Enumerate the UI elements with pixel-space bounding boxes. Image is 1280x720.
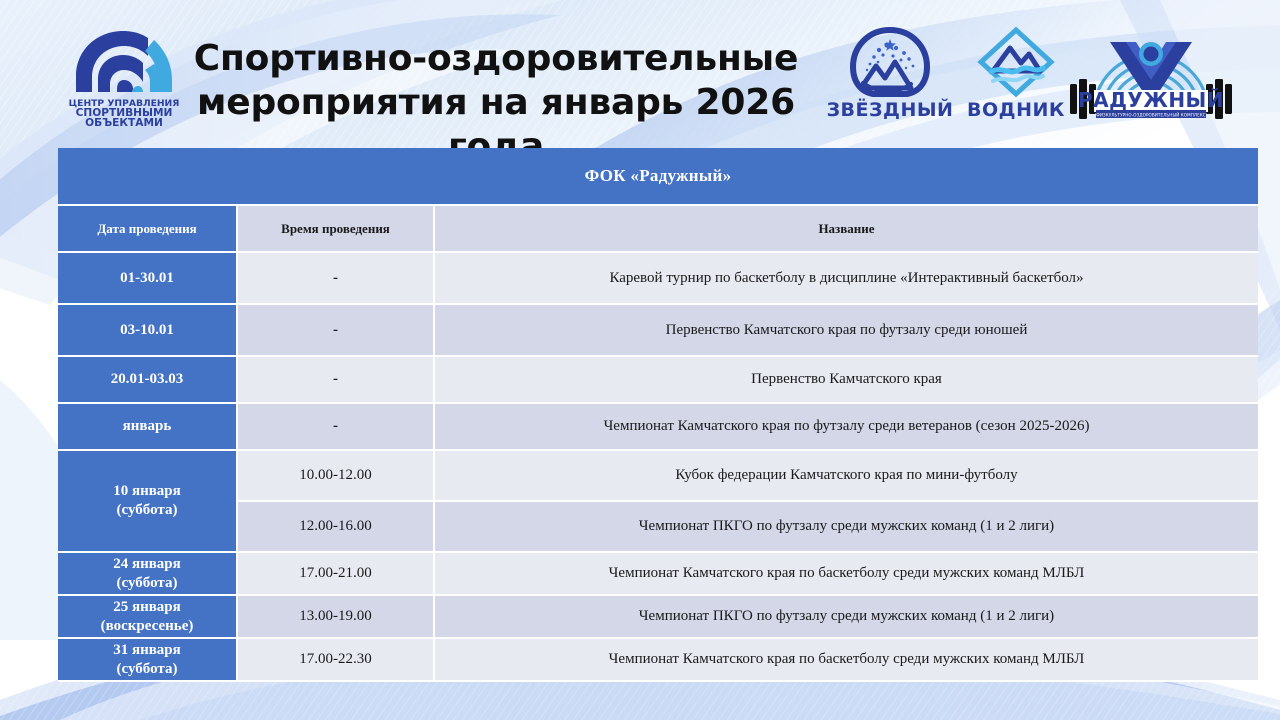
cell-name: Чемпионат Камчатского края по футзалу ср…: [435, 404, 1258, 451]
cell-date-line2: (суббота): [117, 661, 178, 677]
cell-date-line1: 10 января: [113, 483, 181, 499]
venue-name-vodnik: ВОДНИК: [963, 99, 1069, 121]
cell-date-line1: 31 января: [113, 642, 181, 658]
cell-time: -: [238, 357, 435, 404]
table-header-row: Дата проведения Время проведения Названи…: [58, 206, 1258, 253]
table-row: 12.00-16.00 Чемпионат ПКГО по футзалу ср…: [58, 502, 1258, 553]
table-row: 03-10.01 - Первенство Камчатского края п…: [58, 305, 1258, 357]
table-row: 25 января (воскресенье) 13.00-19.00 Чемп…: [58, 596, 1258, 639]
cell-time: 12.00-16.00: [238, 502, 435, 553]
cell-date: 31 января (суббота): [58, 639, 238, 682]
venue-logo-zvezdny: ЗВЁЗДНЫЙ: [826, 26, 954, 121]
table-row: 24 января (суббота) 17.00-21.00 Чемпиона…: [58, 553, 1258, 596]
cell-name: Первенство Камчатского края по футзалу с…: [435, 305, 1258, 357]
cell-date: 10 января (суббота): [58, 451, 238, 553]
table-row: 31 января (суббота) 17.00-22.30 Чемпиона…: [58, 639, 1258, 682]
column-header-date: Дата проведения: [58, 206, 238, 253]
venue-logo-raduzhny: РАДУЖНЫЙ ФИЗКУЛЬТУРНО-ОЗДОРОВИТЕЛЬНЫЙ КО…: [1070, 28, 1232, 128]
schedule-table-container: ФОК «Радужный» Дата проведения Время про…: [58, 148, 1258, 682]
cell-time: 13.00-19.00: [238, 596, 435, 639]
table-row: 10 января (суббота) 10.00-12.00 Кубок фе…: [58, 451, 1258, 502]
cell-time: -: [238, 404, 435, 451]
column-header-name: Название: [435, 206, 1258, 253]
cell-date: 03-10.01: [58, 305, 238, 357]
column-header-time: Время проведения: [238, 206, 435, 253]
cell-date-line2: (суббота): [117, 502, 178, 518]
cell-name: Чемпионат Камчатского края по баскетболу…: [435, 553, 1258, 596]
table-caption-row: ФОК «Радужный»: [58, 148, 1258, 206]
cell-name: Чемпионат Камчатского края по баскетболу…: [435, 639, 1258, 682]
cell-date: 20.01-03.03: [58, 357, 238, 404]
table-row: 01-30.01 - Каревой турнир по баскетболу …: [58, 253, 1258, 305]
cell-time: -: [238, 305, 435, 357]
cell-date: 25 января (воскресенье): [58, 596, 238, 639]
mountain-stars-arch-icon: [849, 26, 931, 98]
cell-name: Кубок федерации Камчатского края по мини…: [435, 451, 1258, 502]
cell-date-line2: (суббота): [117, 575, 178, 591]
cell-date: 24 января (суббота): [58, 553, 238, 596]
page-title-line1: Спортивно-оздоровительные: [194, 38, 798, 79]
org-logo-line3: ОБЪЕКТАМИ: [85, 117, 163, 128]
diamond-mountain-wave-icon: [977, 26, 1055, 98]
waves-arcs-icon: ЦЕНТР УПРАВЛЕНИЯ СПОРТИВНЫМИ ОБЪЕКТАМИ: [68, 24, 180, 128]
schedule-table: ФОК «Радужный» Дата проведения Время про…: [58, 148, 1258, 682]
cell-date-line1: 24 января: [113, 556, 181, 572]
org-logo: ЦЕНТР УПРАВЛЕНИЯ СПОРТИВНЫМИ ОБЪЕКТАМИ: [68, 24, 180, 128]
cell-time: -: [238, 253, 435, 305]
cell-name: Первенство Камчатского края: [435, 357, 1258, 404]
cell-date: 01-30.01: [58, 253, 238, 305]
cell-date-line2: (воскресенье): [101, 618, 194, 634]
cell-date-line1: 25 января: [113, 599, 181, 615]
cell-time: 10.00-12.00: [238, 451, 435, 502]
page-title: Спортивно-оздоровительные мероприятия на…: [176, 48, 816, 158]
table-caption: ФОК «Радужный»: [58, 148, 1258, 206]
venue-name-raduzhny: РАДУЖНЫЙ: [1078, 88, 1224, 112]
venue-name-zvezdny: ЗВЁЗДНЫЙ: [826, 99, 954, 121]
venue-subtitle-raduzhny: ФИЗКУЛЬТУРНО-ОЗДОРОВИТЕЛЬНЫЙ КОМПЛЕКС: [1096, 113, 1206, 118]
cell-date: январь: [58, 404, 238, 451]
cell-name: Чемпионат ПКГО по футзалу среди мужских …: [435, 596, 1258, 639]
chevron-circle-barbell-icon: РАДУЖНЫЙ ФИЗКУЛЬТУРНО-ОЗДОРОВИТЕЛЬНЫЙ КО…: [1070, 28, 1232, 128]
cell-time: 17.00-22.30: [238, 639, 435, 682]
cell-name: Каревой турнир по баскетболу в дисциплин…: [435, 253, 1258, 305]
table-row: январь - Чемпионат Камчатского края по ф…: [58, 404, 1258, 451]
cell-time: 17.00-21.00: [238, 553, 435, 596]
slide-header: ЦЕНТР УПРАВЛЕНИЯ СПОРТИВНЫМИ ОБЪЕКТАМИ С…: [0, 0, 1280, 145]
table-row: 20.01-03.03 - Первенство Камчатского кра…: [58, 357, 1258, 404]
venue-logo-vodnik: ВОДНИК: [963, 26, 1069, 121]
cell-name: Чемпионат ПКГО по футзалу среди мужских …: [435, 502, 1258, 553]
